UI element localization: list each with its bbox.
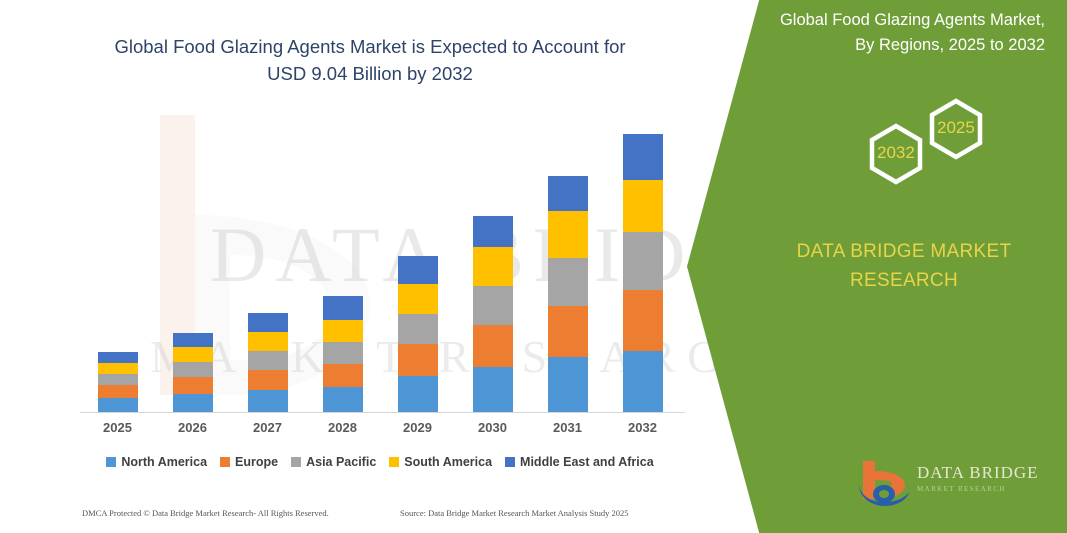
chart-title-line-2: USD 9.04 Billion by 2032 (60, 61, 680, 88)
legend-item[interactable]: North America (106, 455, 207, 469)
bar-segment (398, 344, 438, 376)
bar-column (456, 100, 530, 412)
bar-segment (398, 376, 438, 412)
stacked-bar (398, 256, 438, 412)
data-bridge-logo: DATA BRIDGE MARKET RESEARCH (855, 459, 1045, 511)
bar-segment (623, 134, 663, 180)
bar-segment (548, 258, 588, 306)
x-axis-line (80, 412, 685, 413)
hexagon-badges: 2032 2025 (840, 95, 1020, 215)
legend-label: Middle East and Africa (520, 455, 654, 469)
bar-segment (623, 351, 663, 412)
legend-item[interactable]: Asia Pacific (291, 455, 376, 469)
hexagon-outline-icons (840, 95, 1020, 215)
bar-segment (248, 370, 288, 390)
bar-segment (98, 374, 138, 385)
chart-legend: North AmericaEuropeAsia PacificSouth Ame… (80, 455, 680, 469)
bar-segment (248, 332, 288, 351)
x-axis-label: 2032 (606, 420, 680, 435)
bar-segment (323, 296, 363, 320)
bar-segment (173, 394, 213, 412)
bar-segment (473, 216, 513, 247)
panel-title-line-1: Global Food Glazing Agents Market, (745, 8, 1045, 33)
legend-swatch-icon (291, 457, 301, 467)
panel-title-line-2: By Regions, 2025 to 2032 (745, 33, 1045, 58)
bar-chart-plot-area (80, 100, 680, 412)
stacked-bar (548, 176, 588, 412)
stacked-bar (623, 134, 663, 412)
bar-segment (473, 325, 513, 367)
bar-segment (398, 284, 438, 314)
legend-item[interactable]: South America (389, 455, 492, 469)
bar-column (531, 100, 605, 412)
infographic-page: DATA BRIDGE MARKET RESEARCH Global Food … (0, 0, 1067, 533)
stacked-bar (323, 296, 363, 412)
bar-segment (623, 180, 663, 232)
bar-column (231, 100, 305, 412)
bar-segment (473, 367, 513, 412)
legend-item[interactable]: Middle East and Africa (505, 455, 654, 469)
bar-segment (623, 232, 663, 290)
panel-brand-name: DATA BRIDGE MARKET RESEARCH (779, 237, 1029, 296)
bar-segment (248, 313, 288, 332)
bar-column (306, 100, 380, 412)
chart-title: Global Food Glazing Agents Market is Exp… (60, 34, 680, 88)
legend-swatch-icon (505, 457, 515, 467)
x-axis-label: 2027 (231, 420, 305, 435)
x-axis-label: 2025 (81, 420, 155, 435)
legend-label: North America (121, 455, 207, 469)
bar-segment (98, 352, 138, 363)
bar-segment (398, 256, 438, 284)
bar-segment (323, 364, 363, 387)
stacked-bar (248, 313, 288, 412)
bar-segment (323, 320, 363, 342)
legend-label: Europe (235, 455, 278, 469)
bar-segment (323, 387, 363, 412)
panel-brand-line-2: RESEARCH (779, 266, 1029, 295)
bar-segment (473, 247, 513, 286)
legend-swatch-icon (220, 457, 230, 467)
bar-segment (623, 290, 663, 351)
bar-segment (98, 398, 138, 412)
data-bridge-logo-icon (855, 459, 911, 509)
legend-swatch-icon (106, 457, 116, 467)
footer-source: Source: Data Bridge Market Research Mark… (400, 508, 629, 518)
legend-swatch-icon (389, 457, 399, 467)
x-axis-label: 2028 (306, 420, 380, 435)
bar-segment (98, 385, 138, 398)
bar-segment (173, 347, 213, 362)
bar-column (81, 100, 155, 412)
data-bridge-logo-text: DATA BRIDGE (917, 463, 1039, 483)
bar-segment (548, 211, 588, 258)
bar-column (156, 100, 230, 412)
bar-segment (173, 362, 213, 377)
bar-segment (323, 342, 363, 364)
legend-item[interactable]: Europe (220, 455, 278, 469)
panel-brand-line-1: DATA BRIDGE MARKET (779, 237, 1029, 266)
x-axis-label: 2030 (456, 420, 530, 435)
footer-copyright: DMCA Protected © Data Bridge Market Rese… (82, 508, 329, 518)
bar-segment (548, 306, 588, 357)
x-axis-label: 2029 (381, 420, 455, 435)
bar-segment (473, 286, 513, 325)
panel-title: Global Food Glazing Agents Market, By Re… (745, 8, 1045, 58)
bar-segment (548, 176, 588, 211)
hexagon-2025-label: 2025 (937, 118, 975, 138)
legend-label: Asia Pacific (306, 455, 376, 469)
bar-segment (173, 333, 213, 347)
stacked-bar (98, 352, 138, 412)
bar-segment (98, 363, 138, 374)
bar-column (606, 100, 680, 412)
bar-segment (248, 351, 288, 370)
bar-segment (248, 390, 288, 412)
chart-title-line-1: Global Food Glazing Agents Market is Exp… (60, 34, 680, 61)
legend-label: South America (404, 455, 492, 469)
x-axis-labels: 20252026202720282029203020312032 (80, 420, 680, 435)
data-bridge-logo-subtext: MARKET RESEARCH (917, 485, 1006, 493)
stacked-bar (473, 216, 513, 412)
x-axis-label: 2026 (156, 420, 230, 435)
bar-segment (548, 357, 588, 412)
bar-column (381, 100, 455, 412)
bar-segment (173, 377, 213, 394)
bar-segment (398, 314, 438, 344)
stacked-bar (173, 333, 213, 412)
x-axis-label: 2031 (531, 420, 605, 435)
hexagon-2032-label: 2032 (877, 143, 915, 163)
